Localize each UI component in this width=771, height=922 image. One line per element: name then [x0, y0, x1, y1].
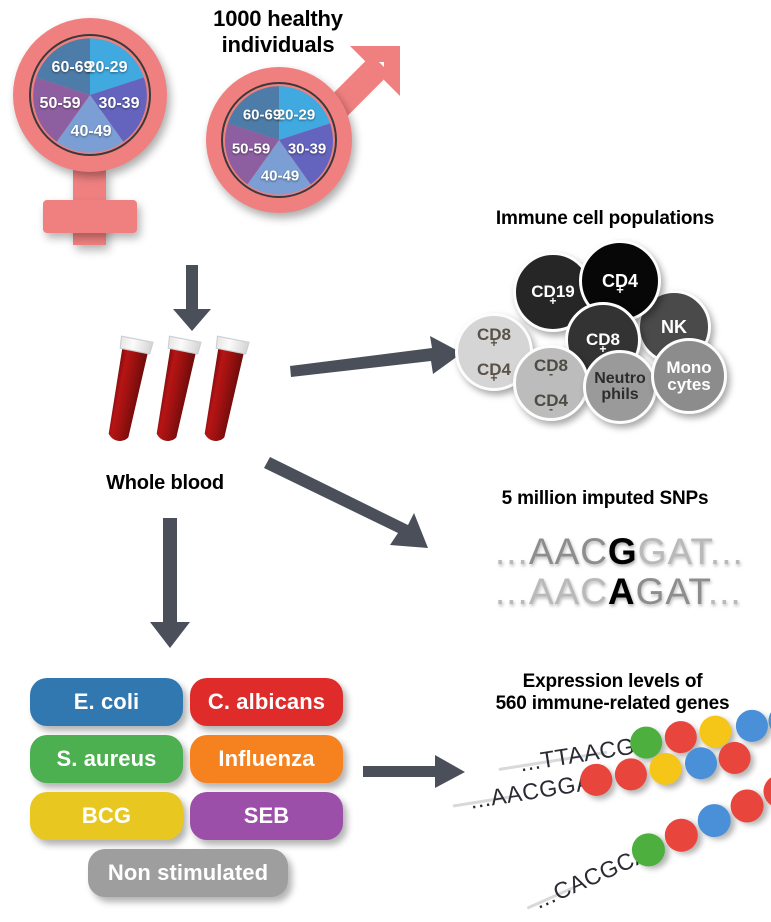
immune-cell-label: CD4+ [602, 272, 638, 291]
female-pie-label-50-59: 50-59 [40, 95, 81, 113]
snp-variant-base: A [608, 571, 636, 612]
arrow-blood-to-immune [290, 330, 470, 380]
male-pie-label-40-49: 40-49 [261, 168, 299, 185]
immune-cell-cluster: CD8+CD4+ CD19+ NK CD4+ CD8+ CD8-CD4- Neu… [455, 240, 771, 420]
stimulus-label: E. coli [74, 689, 140, 715]
stimulus-label: S. aureus [57, 746, 157, 772]
female-age-pie: 20-29 30-39 40-49 50-59 60-69 [29, 34, 151, 156]
immune-cell-label: CD8+ [586, 331, 620, 349]
female-pie-label-20-29: 20-29 [87, 59, 128, 77]
snp-prefix-dots: ... [495, 531, 529, 572]
expression-heading-line-2: 560 immune-related genes [460, 693, 765, 715]
arrow-cohort-to-blood [168, 265, 218, 331]
female-pie-label-40-49: 40-49 [71, 123, 112, 141]
male-pie-label-30-39: 30-39 [288, 141, 326, 158]
cohort-title-line-1: 1000 healthy [168, 6, 388, 32]
blood-tubes [95, 332, 255, 467]
stimulus-label: BCG [82, 803, 131, 829]
immune-cell-label: Neutrophils [594, 371, 646, 404]
male-pie-label-50-59: 50-59 [232, 141, 270, 158]
immune-cell-label: NK [661, 318, 687, 337]
stimulus-label: C. albicans [208, 689, 325, 715]
immune-cell-neutrophils: Neutrophils [583, 350, 657, 424]
immune-heading: Immune cell populations [445, 208, 765, 230]
snp-right-bases: GAT [636, 571, 708, 612]
snp-left-bases: AAC [529, 531, 608, 572]
arrow-blood-to-stimuli [150, 518, 202, 650]
snp-suffix-dots: ... [710, 531, 744, 572]
expression-heading-line-1: Expression levels of [460, 671, 765, 693]
male-age-pie: 20-29 30-39 40-49 50-59 60-69 [221, 82, 337, 198]
snp-right-bases: GAT [638, 531, 710, 572]
blood-tubes-icon [95, 332, 255, 462]
immune-cell-cd8neg-cd4neg: CD8-CD4- [513, 345, 589, 421]
stimulus-s-aureus[interactable]: S. aureus [30, 735, 183, 783]
immune-cell-label: CD19+ [531, 283, 574, 301]
immune-cell-monocytes: Monocytes [651, 338, 727, 414]
arrow-stimuli-to-expression [363, 755, 468, 789]
stimulus-non-stimulated[interactable]: Non stimulated [88, 849, 288, 897]
arrow-blood-to-snps [268, 455, 458, 555]
expression-heading: Expression levels of 560 immune-related … [460, 671, 765, 715]
snp-sequence-row-2: ...AACAGAT... [495, 571, 742, 613]
immune-cell-label: CD8-CD4- [534, 357, 568, 410]
snp-suffix-dots: ... [708, 571, 742, 612]
immune-cell-label: Monocytes [666, 359, 711, 394]
snp-sequence-row-1: ...AACGGAT... [495, 531, 744, 573]
stimulus-label: SEB [244, 803, 290, 829]
whole-blood-label: Whole blood [60, 472, 270, 495]
stimulus-bcg[interactable]: BCG [30, 792, 183, 840]
stimulus-seb[interactable]: SEB [190, 792, 343, 840]
stimulus-influenza[interactable]: Influenza [190, 735, 343, 783]
stimulus-label: Non stimulated [108, 860, 268, 886]
snp-variant-base: G [608, 531, 638, 572]
figure-canvas: 1000 healthy individuals 20-29 30-39 40-… [0, 0, 771, 922]
female-pie-label-30-39: 30-39 [99, 95, 140, 113]
female-pie-label-60-69: 60-69 [52, 59, 93, 77]
male-pie-label-60-69: 60-69 [243, 107, 281, 124]
male-pie-label-20-29: 20-29 [277, 107, 315, 124]
stimulus-label: Influenza [218, 746, 314, 772]
stimulus-e-coli[interactable]: E. coli [30, 678, 183, 726]
snp-prefix-dots: ... [495, 571, 529, 612]
immune-cell-label: CD8+CD4+ [477, 326, 511, 379]
stimulus-c-albicans[interactable]: C. albicans [190, 678, 343, 726]
snps-heading: 5 million imputed SNPs [445, 488, 765, 510]
female-symbol-crossbar [43, 200, 137, 233]
snp-left-bases: AAC [529, 571, 608, 612]
